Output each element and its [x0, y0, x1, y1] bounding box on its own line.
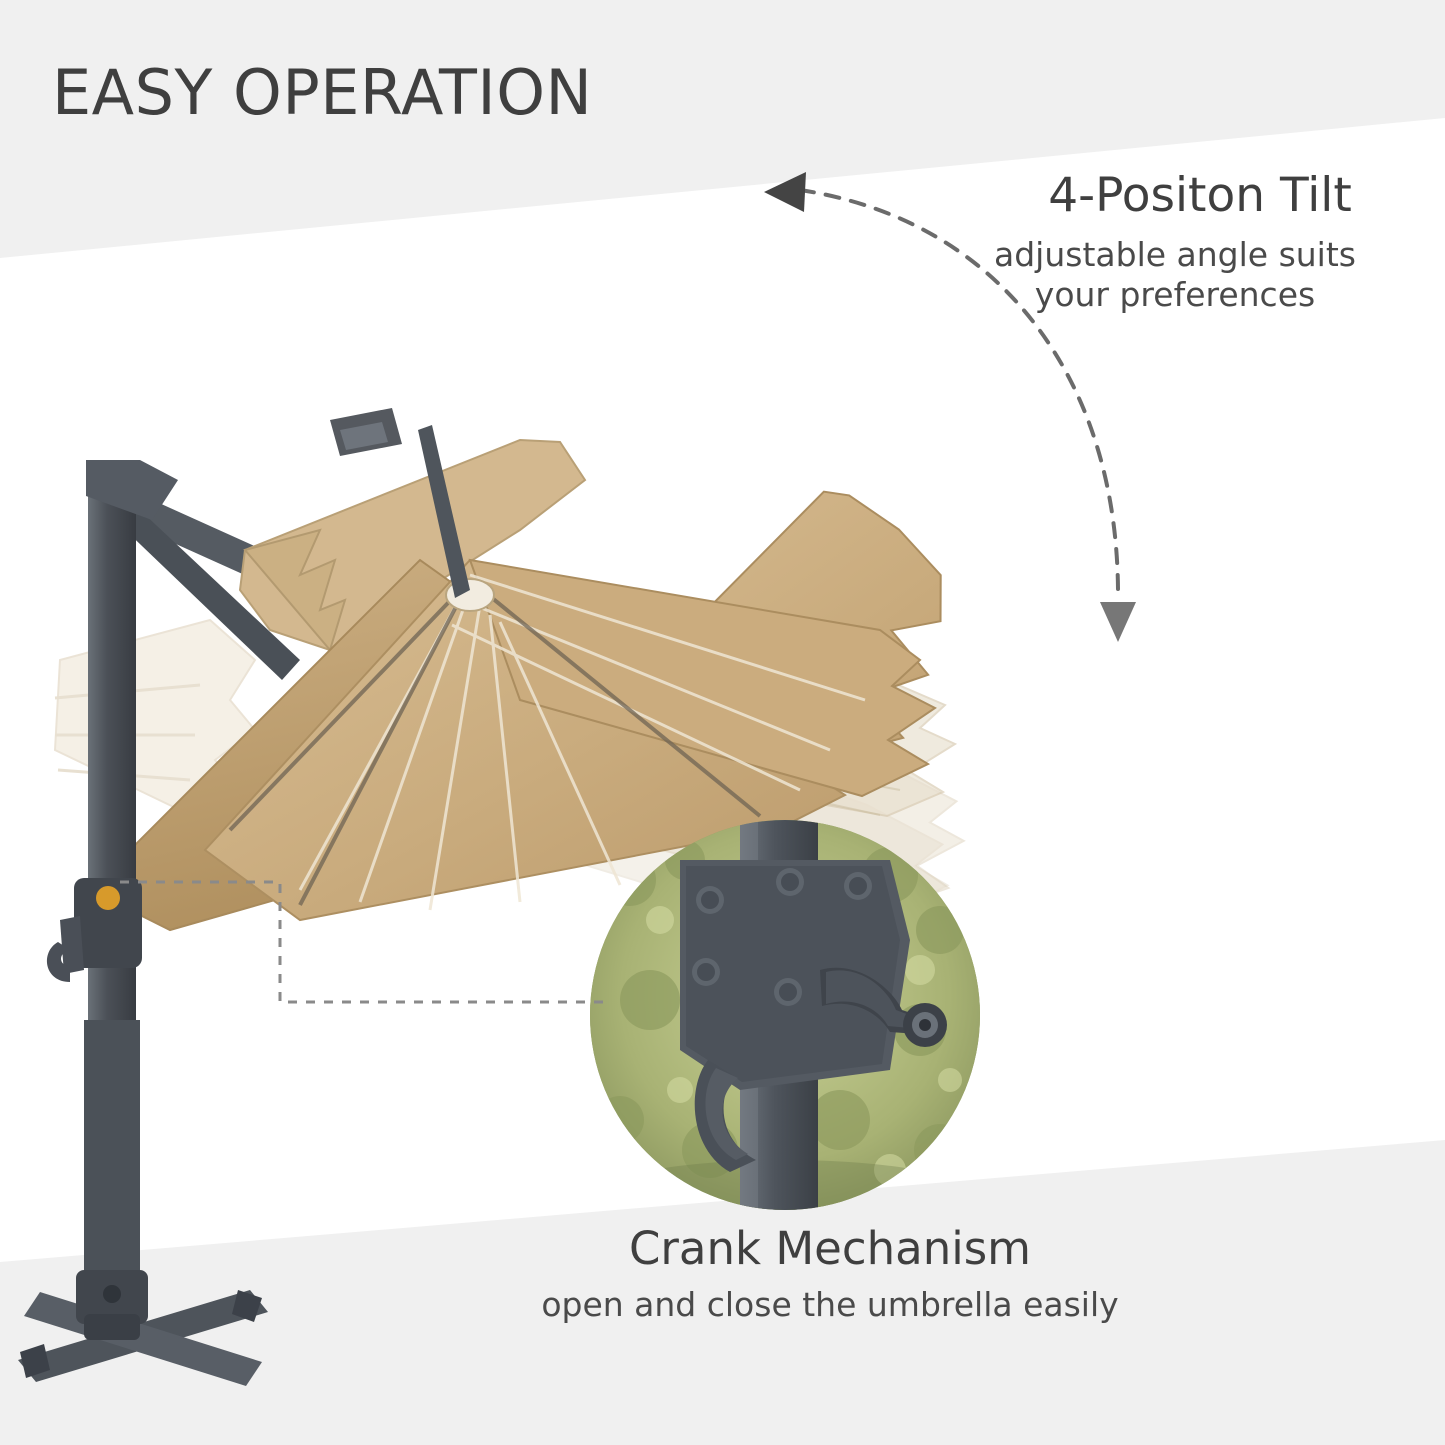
infographic-stage: EASY OPERATION: [0, 0, 1445, 1445]
crank-callout-subtitle: open and close the umbrella easily: [450, 1285, 1210, 1324]
crank-mechanism-photo: [590, 820, 980, 1210]
triangle-down-icon: [1100, 602, 1136, 642]
tilt-callout-subtitle: adjustable angle suits your preferences: [960, 235, 1390, 316]
leader-line-icon: [100, 850, 620, 1030]
crank-callout-title: Crank Mechanism: [520, 1222, 1140, 1275]
page-title: EASY OPERATION: [52, 56, 592, 129]
curved-arrow-icon: [740, 150, 1160, 670]
triangle-left-icon: [764, 172, 806, 212]
tilt-callout-title: 4-Positon Tilt: [1010, 168, 1390, 223]
